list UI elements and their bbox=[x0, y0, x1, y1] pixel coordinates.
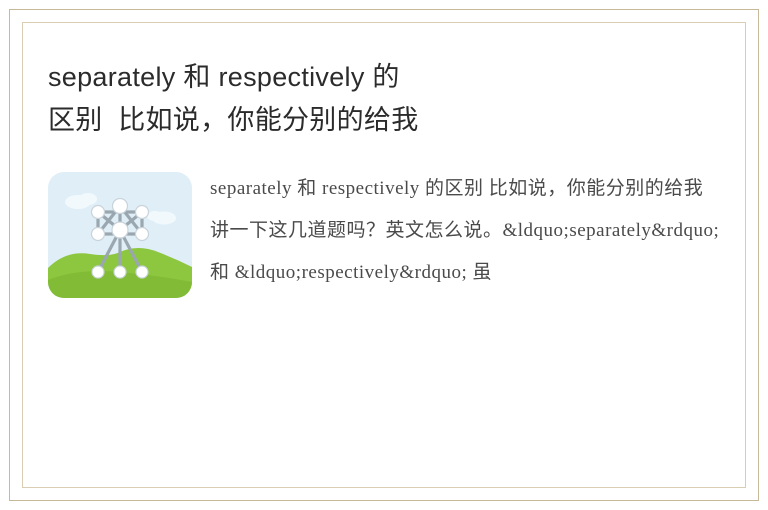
content-area: separately 和 respectively 的区别 比如说，你能分别的给… bbox=[48, 56, 720, 470]
atomium-landmark-illustration bbox=[48, 172, 192, 298]
page-title: separately 和 respectively 的区别 比如说，你能分别的给… bbox=[48, 56, 720, 142]
article-thumbnail bbox=[48, 172, 192, 298]
page-title-line-1: separately 和 respectively 的 bbox=[48, 62, 400, 92]
document-page: separately 和 respectively 的区别 比如说，你能分别的给… bbox=[0, 0, 768, 510]
article-body: separately 和 respectively 的区别 比如说，你能分别的给… bbox=[48, 168, 720, 298]
article-paragraph: separately 和 respectively 的区别 比如说，你能分别的给… bbox=[210, 168, 720, 294]
page-title-line-2: 区别 比如说，你能分别的给我 bbox=[48, 105, 419, 135]
